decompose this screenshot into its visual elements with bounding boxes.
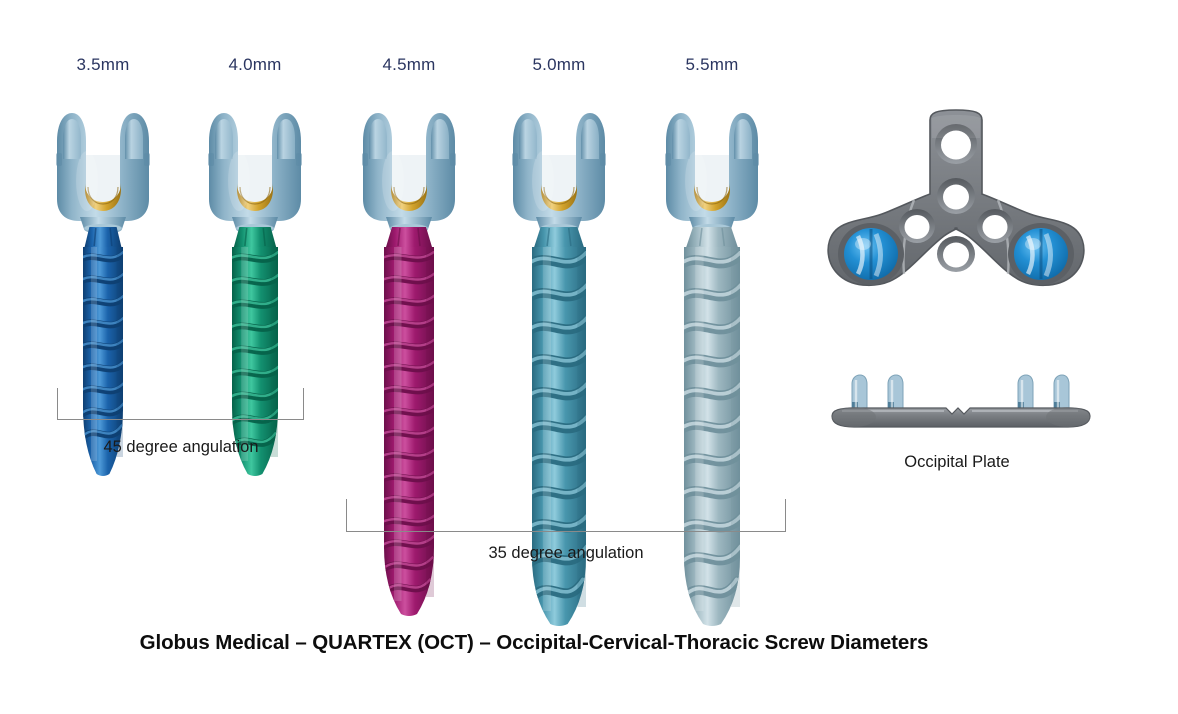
plate-screw-left (838, 223, 904, 285)
screw-3-5mm (43, 95, 163, 487)
tulip-head (503, 95, 615, 235)
screw-4-0mm (195, 95, 315, 487)
occipital-plate-side-view (828, 368, 1094, 430)
occipital-plate-label: Occipital Plate (904, 453, 1009, 472)
tulip-head-graphic (503, 95, 615, 237)
tulip-head-graphic (353, 95, 465, 237)
tulip-head (353, 95, 465, 235)
screw-size-label-4-5mm: 4.5mm (383, 55, 436, 75)
occipital-plate-graphic (818, 108, 1094, 304)
screw-size-label-5-0mm: 5.0mm (533, 55, 586, 75)
screw-4-5mm (349, 95, 469, 627)
screw-shaft (676, 227, 748, 632)
screw-size-label-5-5mm: 5.5mm (686, 55, 739, 75)
plate-screw-right (1008, 223, 1074, 285)
diagram-caption: Globus Medical – QUARTEX (OCT) – Occipit… (140, 631, 929, 655)
screw-shaft-graphic (376, 227, 442, 617)
diagram-canvas: 3.5mm (0, 0, 1178, 714)
screw-shaft-graphic (524, 227, 594, 627)
angulation-bracket-1 (346, 499, 786, 532)
screw-5-5mm (652, 95, 772, 637)
screw-shaft (376, 227, 442, 622)
angulation-bracket-label-1: 35 degree angulation (488, 544, 643, 563)
tulip-head (47, 95, 159, 235)
tulip-head-graphic (656, 95, 768, 237)
screw-shaft (524, 227, 594, 632)
angulation-bracket-0 (57, 388, 304, 420)
screw-size-label-4-0mm: 4.0mm (229, 55, 282, 75)
tulip-head (656, 95, 768, 235)
tulip-head-graphic (199, 95, 311, 237)
occipital-plate-top-view (818, 108, 1094, 304)
screw-shaft-graphic (676, 227, 748, 627)
tulip-head (199, 95, 311, 235)
screw-size-label-3-5mm: 3.5mm (77, 55, 130, 75)
occipital-plate-side-graphic (828, 368, 1094, 430)
tulip-head-graphic (47, 95, 159, 237)
angulation-bracket-label-0: 45 degree angulation (103, 438, 258, 457)
